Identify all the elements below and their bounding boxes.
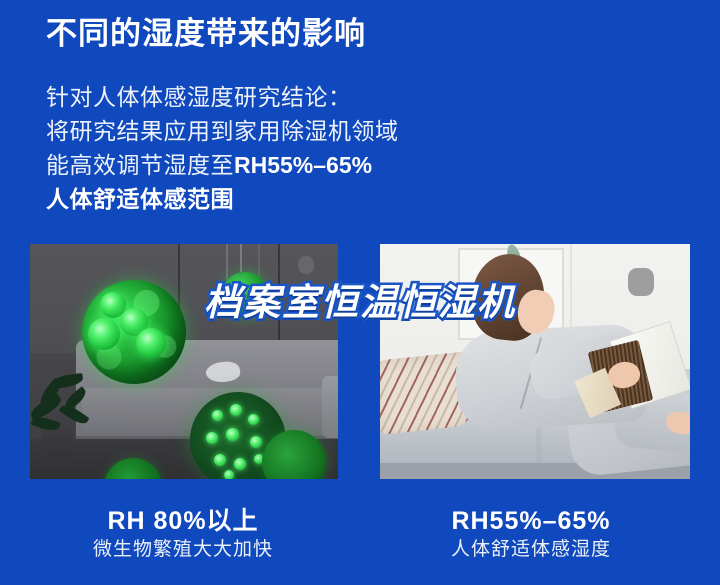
microbe-spike-icon <box>206 432 218 444</box>
poster-root: 不同的湿度带来的影响 针对人体体感湿度研究结论： 将研究结果应用到家用除湿机领域… <box>0 0 720 585</box>
body-line-3-prefix: 能高效调节湿度至 <box>46 152 234 178</box>
microbe-spike-icon <box>214 454 226 466</box>
body-line-1: 针对人体体感湿度研究结论： <box>46 80 399 114</box>
caption-high-humidity: RH 80%以上 微生物繁殖大大加快 <box>18 506 348 564</box>
product-overlay-title: 档案室恒温恒湿机 <box>0 272 720 326</box>
caption-subtitle: 微生物繁殖大大加快 <box>18 536 348 564</box>
microbe-bud-icon <box>136 328 166 358</box>
body-line-3: 能高效调节湿度至RH55%–65% <box>46 148 399 182</box>
body-line-2: 将研究结果应用到家用除湿机领域 <box>46 114 399 148</box>
microbe-spike-icon <box>250 436 262 448</box>
caption-subtitle: 人体舒适体感湿度 <box>366 536 696 564</box>
sofa-arm <box>322 376 338 438</box>
body-line-3-highlight: RH55%–65% <box>234 152 372 178</box>
microbe-spike-icon <box>234 458 246 470</box>
caption-title: RH55%–65% <box>366 506 696 536</box>
body-line-4: 人体舒适体感范围 <box>46 182 399 216</box>
microbe-spike-icon <box>212 410 223 421</box>
microbe-spike-icon <box>248 414 259 425</box>
microbe-spike-icon <box>224 470 234 479</box>
page-title: 不同的湿度带来的影响 <box>46 16 366 52</box>
caption-comfort-humidity: RH55%–65% 人体舒适体感湿度 <box>366 506 696 564</box>
caption-title: RH 80%以上 <box>18 506 348 536</box>
microbe-spike-icon <box>226 428 239 441</box>
body-copy: 针对人体体感湿度研究结论： 将研究结果应用到家用除湿机领域 能高效调节湿度至RH… <box>46 80 399 216</box>
microbe-spike-icon <box>230 404 242 416</box>
